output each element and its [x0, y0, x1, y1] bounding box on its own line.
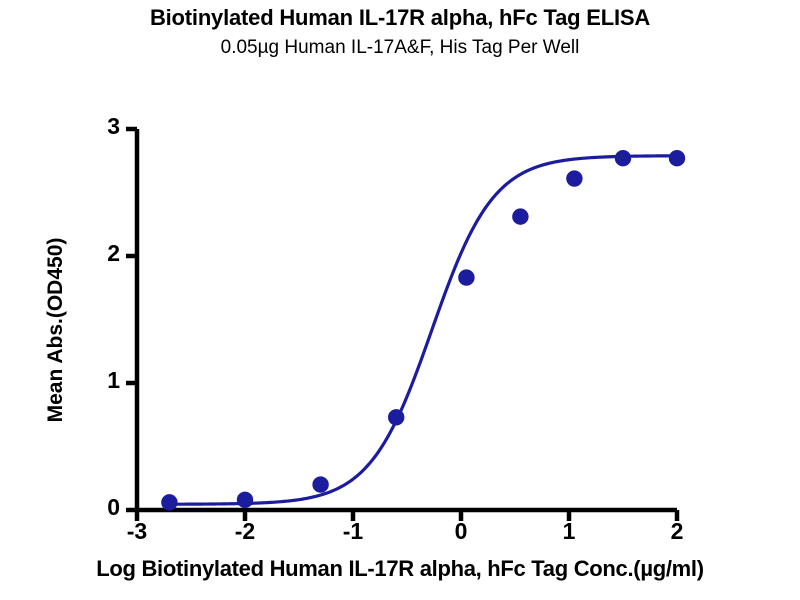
y-tick-label: 1: [80, 367, 120, 394]
data-point-marker: [512, 208, 528, 224]
data-point-marker: [615, 150, 631, 166]
x-tick-label: -1: [331, 518, 375, 545]
fit-curve-line: [169, 156, 677, 504]
x-tick-label: 1: [547, 518, 591, 545]
x-tick-label: -2: [223, 518, 267, 545]
data-point-marker: [566, 170, 582, 186]
x-tick-label: -3: [115, 518, 159, 545]
plot-canvas: [0, 0, 800, 600]
data-point-marker: [161, 494, 177, 510]
data-point-marker: [237, 492, 253, 508]
y-tick-label: 2: [80, 240, 120, 267]
data-point-marker: [388, 409, 404, 425]
x-tick-label: 0: [439, 518, 483, 545]
data-point-marker: [669, 150, 685, 166]
y-tick-label: 3: [80, 113, 120, 140]
data-point-marker: [312, 476, 328, 492]
tick-marks: [126, 129, 677, 521]
y-axis-label: Mean Abs.(OD450): [44, 200, 68, 460]
axis-lines: [137, 129, 677, 510]
data-point-marker: [458, 269, 474, 285]
elisa-binding-curve-figure: Biotinylated Human IL-17R alpha, hFc Tag…: [0, 0, 800, 600]
y-tick-label: 0: [80, 494, 120, 521]
x-tick-label: 2: [655, 518, 699, 545]
fit-curve: [169, 156, 677, 504]
data-point-markers: [161, 150, 685, 511]
x-axis-label: Log Biotinylated Human IL-17R alpha, hFc…: [0, 556, 800, 582]
